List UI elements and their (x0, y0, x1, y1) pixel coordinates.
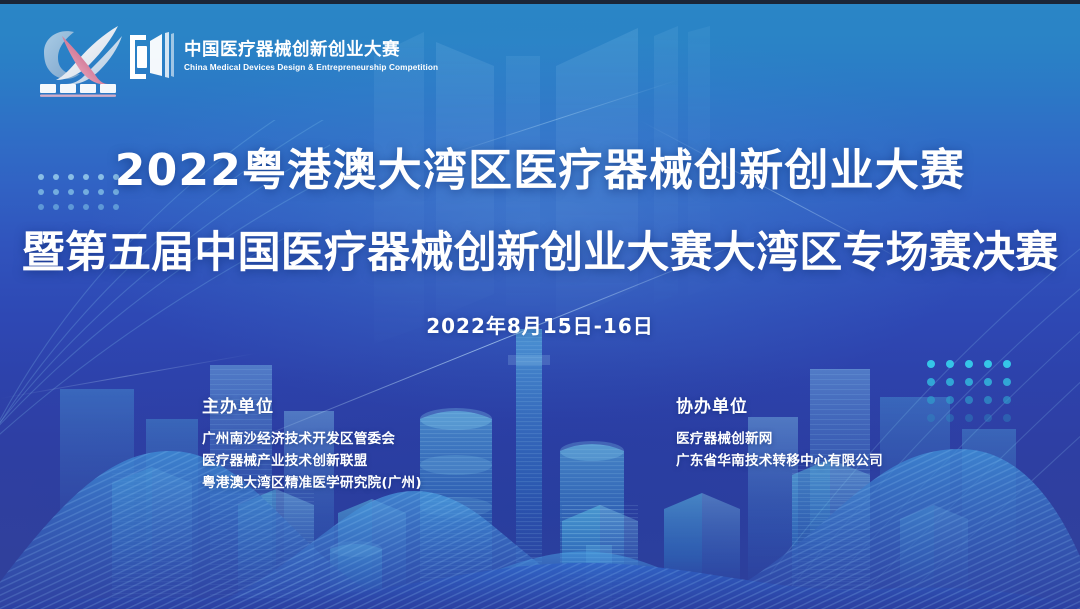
top-dark-bar (0, 0, 1080, 4)
list-item: 粤港澳大湾区精准医学研究院(广州) (202, 472, 422, 494)
header-logos: 中国医疗器械创新创业大赛 China Medical Devices Desig… (0, 0, 1080, 110)
wave-mountains-graphic (0, 429, 1080, 609)
open-door-icon (128, 32, 174, 82)
host-organizer-list: 广州南沙经济技术开发区管委会 医疗器械产业技术创新联盟 粤港澳大湾区精准医学研究… (202, 428, 422, 494)
list-item: 广州南沙经济技术开发区管委会 (202, 428, 422, 450)
cohost-organizer-block: 协办单位 医疗器械创新网 广东省华南技术转移中心有限公司 (676, 392, 883, 472)
list-item: 医疗器械创新网 (676, 428, 883, 450)
list-item: 医疗器械产业技术创新联盟 (202, 450, 422, 472)
host-organizer-heading: 主办单位 (202, 392, 422, 417)
dot-grid-right (927, 360, 1022, 432)
competition-logo[interactable]: 中国医疗器械创新创业大赛 China Medical Devices Desig… (128, 32, 449, 82)
list-item: 广东省华南技术转移中心有限公司 (676, 450, 883, 472)
event-date: 2022年8月15日-16日 (0, 310, 1080, 339)
competition-logo-en: China Medical Devices Design & Entrepren… (184, 63, 438, 72)
poster-root: 中国医疗器械创新创业大赛 China Medical Devices Desig… (0, 0, 1080, 609)
host-organizer-block: 主办单位 广州南沙经济技术开发区管委会 医疗器械产业技术创新联盟 粤港澳大湾区精… (202, 392, 422, 494)
cohost-organizer-heading: 协办单位 (676, 392, 883, 417)
innovation-china-logo[interactable] (34, 24, 130, 98)
cohost-organizer-list: 医疗器械创新网 广东省华南技术转移中心有限公司 (676, 428, 883, 472)
main-title-line1: 2022粤港澳大湾区医疗器械创新创业大赛 (0, 134, 1080, 198)
main-title-line2: 暨第五届中国医疗器械创新创业大赛大湾区专场赛决赛 (0, 218, 1080, 280)
competition-logo-cn: 中国医疗器械创新创业大赛 (184, 42, 449, 60)
